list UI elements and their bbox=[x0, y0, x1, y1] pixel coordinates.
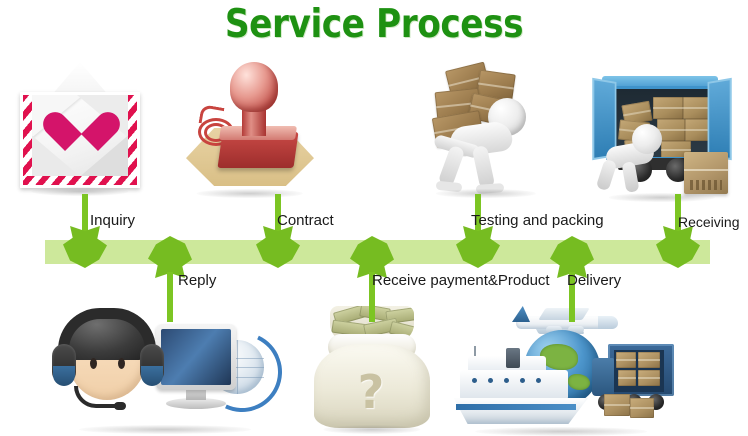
headset-band bbox=[58, 308, 156, 350]
currency-symbol: ? bbox=[352, 370, 390, 416]
label-receive-payment: Receive payment&Product bbox=[372, 272, 550, 289]
ship-window bbox=[536, 378, 541, 383]
arrow-head bbox=[256, 226, 300, 268]
truck-cab bbox=[592, 358, 614, 396]
ship-window bbox=[504, 378, 509, 383]
label-inquiry: Inquiry bbox=[90, 212, 135, 229]
monitor-icon bbox=[156, 324, 236, 390]
truck-door-right bbox=[708, 78, 732, 160]
agent-eye bbox=[90, 358, 97, 369]
heart-icon bbox=[58, 96, 104, 138]
arrow-stem bbox=[82, 194, 88, 234]
rubber-stamp-icon bbox=[180, 58, 320, 194]
label-testing-packing: Testing and packing bbox=[471, 212, 604, 229]
ship-funnel bbox=[506, 348, 520, 368]
service-process-infographic: Service Process bbox=[0, 0, 748, 436]
arrow-head bbox=[456, 226, 500, 268]
cargo-box bbox=[685, 119, 709, 141]
envelope-stripe-bottom bbox=[23, 176, 137, 185]
icon-shadow bbox=[323, 425, 420, 434]
headset-mic-boom bbox=[74, 386, 118, 408]
envelope-stripe-left bbox=[23, 95, 32, 185]
agent-eye bbox=[118, 358, 125, 369]
arrow-head bbox=[656, 226, 700, 268]
headset-earcup-accent bbox=[53, 366, 75, 386]
arrow-stem bbox=[167, 272, 173, 322]
arrow-contract bbox=[256, 194, 300, 268]
container-truck-icon bbox=[592, 344, 674, 420]
cargo-box bbox=[638, 370, 660, 386]
container-interior bbox=[614, 350, 664, 392]
ship-window bbox=[472, 378, 477, 383]
cargo-box bbox=[618, 370, 636, 386]
arrow-testing-packing bbox=[456, 194, 500, 268]
truck-unloading-icon bbox=[592, 72, 732, 198]
arrow-receiving bbox=[656, 194, 700, 268]
figure-leg bbox=[596, 159, 618, 192]
figure-head bbox=[632, 124, 662, 154]
ship-window bbox=[488, 378, 493, 383]
cargo-box bbox=[604, 394, 630, 416]
label-delivery: Delivery bbox=[567, 272, 621, 289]
ship-window bbox=[520, 378, 525, 383]
cargo-box bbox=[616, 352, 636, 368]
arrow-head bbox=[63, 226, 107, 268]
stamp-handle bbox=[230, 62, 278, 112]
monitor-screen bbox=[161, 329, 231, 385]
ship-stripe bbox=[456, 404, 576, 410]
support-agent-icon bbox=[52, 306, 278, 430]
delivered-box bbox=[684, 152, 728, 194]
label-contract: Contract bbox=[277, 212, 334, 229]
envelope-heart-icon bbox=[16, 62, 144, 192]
logistics-icon bbox=[448, 306, 674, 432]
cargo-box bbox=[653, 97, 683, 119]
ship-deck bbox=[460, 370, 568, 400]
arrow-inquiry bbox=[63, 194, 107, 268]
ship-hull bbox=[448, 398, 588, 424]
icon-shadow bbox=[475, 427, 647, 436]
label-receiving: Receiving bbox=[678, 214, 739, 230]
page-title: Service Process bbox=[45, 2, 703, 47]
headset-mic-tip bbox=[114, 402, 126, 410]
boxes-carrier-icon bbox=[420, 62, 552, 194]
label-reply: Reply bbox=[178, 272, 216, 289]
plane-tail bbox=[512, 306, 530, 322]
icon-shadow bbox=[79, 425, 251, 434]
cargo-box bbox=[630, 398, 654, 418]
envelope-stripe-right bbox=[128, 95, 137, 185]
cargo-box bbox=[638, 352, 660, 368]
cargo-box bbox=[683, 97, 709, 119]
cargo-ship-icon bbox=[448, 346, 588, 424]
box-label-glyph bbox=[690, 180, 722, 190]
plane-nose bbox=[598, 316, 618, 329]
